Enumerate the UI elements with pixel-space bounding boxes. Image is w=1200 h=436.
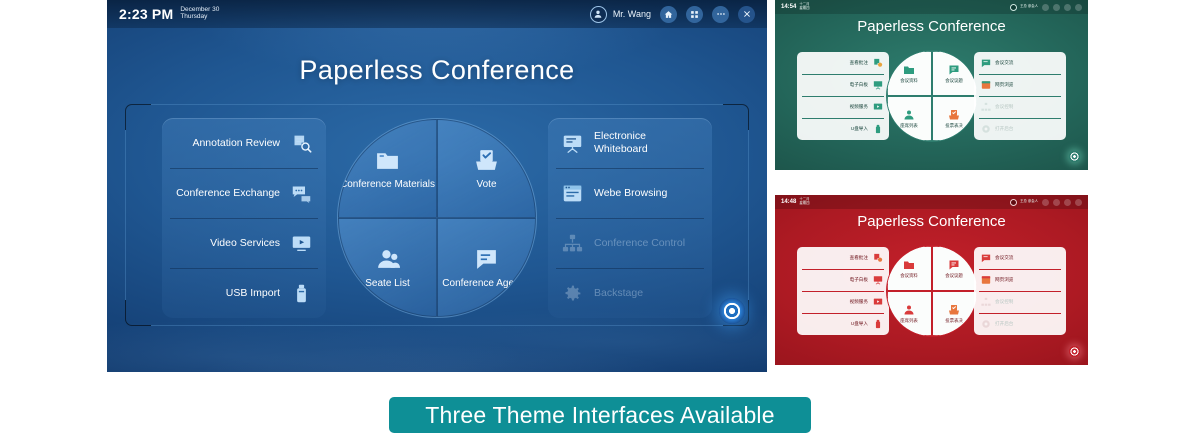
menu-item-video-services[interactable]: Video Services [162, 218, 326, 268]
whiteboard-icon [872, 80, 883, 91]
menu-label: 网页浏览 [991, 82, 1060, 88]
left-menu-card: Annotation Review Conference Exchange Vi… [162, 118, 326, 318]
frame-line-top [151, 104, 723, 105]
video-play-icon [872, 297, 883, 308]
wheel-item-seat-list[interactable]: 座席列表 [887, 96, 932, 141]
menu-item-backstage[interactable]: Backstage [548, 268, 712, 318]
menu-label: 电子白板 [803, 82, 872, 88]
menu-label: Webe Browsing [584, 187, 699, 200]
menu-label: U盘导入 [803, 126, 872, 132]
blue-topbar: 2:23 PM December 30 Thursday Mr. Wang [107, 0, 767, 28]
menu-label: 电子白板 [803, 277, 872, 283]
browser-window-icon [980, 80, 991, 91]
menu-item-conference-exchange[interactable]: Conference Exchange [162, 168, 326, 218]
wheel-label: 投票表决 [945, 123, 963, 128]
wheel-label: 会议资料 [900, 273, 918, 278]
wheel-item-materials[interactable]: 会议资料 [887, 246, 932, 291]
menu-label: U盘导入 [803, 321, 872, 327]
usb-drive-icon [872, 319, 883, 330]
theme-banner: Three Theme Interfaces Available [389, 397, 811, 433]
gear-icon [980, 319, 991, 330]
chat-bubble-icon [980, 58, 991, 69]
weekday-text: 星期四 [799, 6, 809, 10]
frame-corner-bl [125, 300, 151, 326]
menu-label: 会议控制 [991, 104, 1060, 110]
close-icon[interactable] [738, 6, 755, 23]
video-play-icon [872, 102, 883, 113]
page-title: Paperless Conference [775, 213, 1088, 230]
wheel-label: 座席列表 [900, 318, 918, 323]
org-hierarchy-icon [980, 297, 991, 308]
more-icon[interactable] [712, 6, 729, 23]
video-play-icon [290, 232, 313, 255]
chat-bubble-icon [290, 182, 313, 205]
agenda-note-icon [948, 258, 961, 271]
date-block: 十二月 星期四 [799, 198, 809, 205]
red-right-menu-card: 会议交流 网页浏览 会议控制 打开后台 [974, 247, 1066, 335]
usb-drive-icon [290, 282, 313, 305]
org-hierarchy-icon [980, 102, 991, 113]
menu-item-view-annotation[interactable]: 查看批注 [797, 52, 889, 74]
clock: 14:48 [781, 199, 796, 205]
people-icon [374, 246, 401, 273]
menu-item-open-backstage[interactable]: 打开后台 [974, 118, 1066, 140]
wheel-label: Conference Materials [340, 179, 435, 191]
green-center-wheel: 会议资料 会议议题 座席列表 投票表决 [886, 50, 978, 142]
menu-label: 打开后台 [991, 321, 1060, 327]
menu-label: 打开后台 [991, 126, 1060, 132]
menu-item-electronic-whiteboard[interactable]: Electronice Whiteboard [548, 118, 712, 168]
menu-label: Electronice Whiteboard [584, 130, 699, 156]
green-topbar: 14:54 十二月 星期四 王总 参会人 [775, 0, 1088, 14]
menu-item-video-service[interactable]: 视频服务 [797, 291, 889, 313]
wheel-item-vote[interactable]: 投票表决 [932, 291, 977, 336]
wheel-item-materials[interactable]: 会议资料 [887, 51, 932, 96]
gear-icon [561, 282, 584, 305]
frame-corner-tr [723, 104, 749, 130]
frame-line-right [748, 130, 749, 300]
green-left-menu-card: 查看批注 电子白板 视频服务 U盘导入 [797, 52, 889, 140]
menu-label: Conference Exchange [175, 187, 290, 200]
menu-item-conference-control[interactable]: 会议控制 [974, 96, 1066, 118]
menu-label: USB Import [175, 287, 290, 300]
browser-window-icon [561, 182, 584, 205]
usb-drive-icon [872, 124, 883, 135]
menu-item-usb-import[interactable]: U盘导入 [797, 118, 889, 140]
wheel-item-agenda[interactable]: 会议议题 [932, 246, 977, 291]
menu-label: 视频服务 [803, 104, 872, 110]
whiteboard-icon [872, 275, 883, 286]
menu-item-web-browsing[interactable]: 网页浏览 [974, 74, 1066, 96]
ballot-box-icon [473, 147, 500, 174]
page-title: Paperless Conference [107, 55, 767, 86]
ballot-box-icon [948, 303, 961, 316]
menu-item-web-browsing[interactable]: 网页浏览 [974, 269, 1066, 291]
wheel-label: 投票表决 [945, 318, 963, 323]
frame-line-left [125, 130, 126, 300]
menu-label: Backstage [584, 287, 699, 300]
blue-theme-screen: 2:23 PM December 30 Thursday Mr. Wang [107, 0, 767, 372]
date-block: December 30 Thursday [180, 7, 219, 20]
topbar-actions: 王总 参会人 [1010, 4, 1082, 11]
menu-item-whiteboard[interactable]: 电子白板 [797, 74, 889, 96]
wheel-item-agenda[interactable]: 会议议题 [932, 51, 977, 96]
green-theme-screen[interactable]: 14:54 十二月 星期四 王总 参会人 Paperless Conferenc… [775, 0, 1088, 170]
agenda-note-icon [473, 246, 500, 273]
power-orb-button[interactable] [1069, 151, 1080, 162]
wheel-label: 会议议题 [945, 78, 963, 83]
grid-icon[interactable] [1053, 199, 1060, 206]
folder-icon [374, 147, 401, 174]
people-icon [903, 303, 916, 316]
topbar-actions: Mr. Wang [590, 6, 755, 23]
menu-item-conference-control[interactable]: 会议控制 [974, 291, 1066, 313]
topbar-actions: 王总 参会人 [1010, 199, 1082, 206]
menu-label: 会议控制 [991, 299, 1060, 305]
home-icon[interactable] [1042, 199, 1049, 206]
wheel-item-seat-list[interactable]: 座席列表 [887, 291, 932, 336]
right-menu-card: Electronice Whiteboard Webe Browsing Con… [548, 118, 712, 318]
menu-item-conference-exchange[interactable]: 会议交流 [974, 247, 1066, 269]
folder-icon [903, 63, 916, 76]
menu-label: 会议交流 [991, 255, 1060, 261]
more-icon[interactable] [1064, 199, 1071, 206]
people-icon [903, 108, 916, 121]
avatar[interactable] [1010, 199, 1017, 206]
menu-item-usb-import[interactable]: U盘导入 [797, 313, 889, 335]
clock: 2:23 PM [119, 6, 173, 22]
browser-window-icon [980, 275, 991, 286]
menu-item-open-backstage[interactable]: 打开后台 [974, 313, 1066, 335]
avatar[interactable] [1010, 4, 1017, 11]
grid-icon[interactable] [686, 6, 703, 23]
red-topbar: 14:48 十二月 星期四 王总 参会人 [775, 195, 1088, 209]
wheel-item-vote[interactable]: 投票表决 [932, 96, 977, 141]
wheel-item-vote[interactable]: Vote [437, 119, 536, 218]
frame-line-bottom [151, 325, 723, 326]
agenda-note-icon [948, 63, 961, 76]
green-right-menu-card: 会议交流 网页浏览 会议控制 打开后台 [974, 52, 1066, 140]
menu-item-video-service[interactable]: 视频服务 [797, 96, 889, 118]
frame-corner-tl [125, 104, 151, 130]
date-block: 十二月 星期四 [799, 3, 809, 10]
more-icon[interactable] [1064, 4, 1071, 11]
wheel-label: Vote [476, 179, 496, 191]
red-left-menu-card: 查看批注 电子白板 视频服务 U盘导入 [797, 247, 889, 335]
annotation-review-icon [290, 132, 313, 155]
chat-bubble-icon [980, 253, 991, 264]
wheel-label: Seate List [365, 278, 409, 290]
menu-label: 会议交流 [991, 60, 1060, 66]
gear-icon [980, 124, 991, 135]
username-label: 王总 参会人 [1020, 5, 1038, 9]
org-hierarchy-icon [561, 232, 584, 255]
power-orb-button[interactable] [719, 298, 745, 324]
menu-item-annotation-review[interactable]: Annotation Review [162, 118, 326, 168]
menu-label: Conference Control [584, 237, 699, 250]
weekday-text: 星期四 [799, 201, 809, 205]
center-wheel: Conference Materials Vote Seate List Con… [337, 118, 537, 318]
menu-item-web-browsing[interactable]: Webe Browsing [548, 168, 712, 218]
power-orb-button[interactable] [1069, 346, 1080, 357]
screenshot-stage: 2:23 PM December 30 Thursday Mr. Wang [0, 0, 1200, 436]
menu-item-whiteboard[interactable]: 电子白板 [797, 269, 889, 291]
annotation-review-icon [872, 58, 883, 69]
menu-item-conference-exchange[interactable]: 会议交流 [974, 52, 1066, 74]
username-label: Mr. Wang [613, 9, 651, 19]
menu-item-view-annotation[interactable]: 查看批注 [797, 247, 889, 269]
red-center-wheel: 会议资料 会议议题 座席列表 投票表决 [886, 245, 978, 337]
username-label: 王总 参会人 [1020, 200, 1038, 204]
weekday-text: Thursday [180, 14, 219, 21]
wheel-label: 座席列表 [900, 123, 918, 128]
menu-label: 视频服务 [803, 299, 872, 305]
clock: 14:54 [781, 4, 796, 10]
menu-label: 网页浏览 [991, 277, 1060, 283]
menu-label: 查看批注 [803, 60, 872, 66]
home-icon[interactable] [1042, 4, 1049, 11]
home-icon[interactable] [660, 6, 677, 23]
wheel-item-conference-materials[interactable]: Conference Materials [338, 119, 437, 218]
folder-icon [903, 258, 916, 271]
ballot-box-icon [948, 108, 961, 121]
menu-label: 查看批注 [803, 255, 872, 261]
avatar[interactable] [590, 6, 607, 23]
page-title: Paperless Conference [775, 18, 1088, 35]
close-icon[interactable] [1075, 4, 1082, 11]
wheel-label: Conference Agenda [442, 278, 530, 290]
grid-icon[interactable] [1053, 4, 1060, 11]
menu-label: Annotation Review [175, 137, 290, 150]
red-theme-screen[interactable]: 14:48 十二月 星期四 王总 参会人 Paperless Conferenc… [775, 195, 1088, 365]
close-icon[interactable] [1075, 199, 1082, 206]
menu-item-conference-control[interactable]: Conference Control [548, 218, 712, 268]
wheel-label: 会议议题 [945, 273, 963, 278]
menu-item-usb-import[interactable]: USB Import [162, 268, 326, 318]
annotation-review-icon [872, 253, 883, 264]
wheel-label: 会议资料 [900, 78, 918, 83]
whiteboard-icon [561, 132, 584, 155]
menu-label: Video Services [175, 237, 290, 250]
